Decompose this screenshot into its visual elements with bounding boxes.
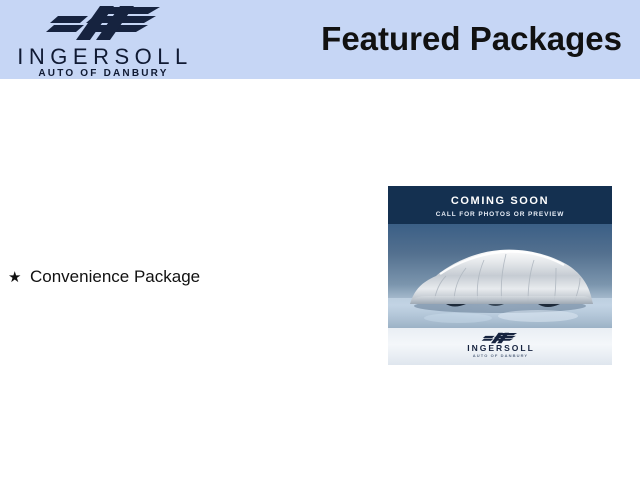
- covered-car-icon: [388, 224, 612, 328]
- vehicle-placeholder-image[interactable]: COMING SOON CALL FOR PHOTOS OR PREVIEW: [388, 186, 612, 365]
- coming-soon-subline: CALL FOR PHOTOS OR PREVIEW: [388, 211, 612, 219]
- image-footer-branding: INGERSOLL AUTO OF DANBURY: [388, 328, 612, 365]
- footer-brand-wordmark: INGERSOLL: [388, 343, 612, 353]
- brand-subwordmark: AUTO OF DANBURY: [0, 69, 205, 79]
- brand-logo[interactable]: INGERSOLL AUTO OF DANBURY: [0, 2, 205, 78]
- footer-brand-subwordmark: AUTO OF DANBURY: [388, 353, 612, 359]
- list-item: ★ Convenience Package: [8, 266, 348, 289]
- star-bullet-icon: ★: [8, 267, 30, 289]
- featured-packages-list: ★ Convenience Package: [8, 266, 348, 289]
- ingersoll-winged-emblem-icon: [481, 331, 519, 343]
- brand-wordmark: INGERSOLL: [0, 46, 205, 68]
- page-header: INGERSOLL AUTO OF DANBURY Featured Packa…: [0, 0, 640, 79]
- page-title: Featured Packages: [321, 20, 622, 58]
- coming-soon-banner: COMING SOON CALL FOR PHOTOS OR PREVIEW: [388, 186, 612, 224]
- ingersoll-winged-emblem-icon: [44, 5, 166, 41]
- package-label: Convenience Package: [30, 266, 200, 288]
- coming-soon-headline: COMING SOON: [388, 195, 612, 207]
